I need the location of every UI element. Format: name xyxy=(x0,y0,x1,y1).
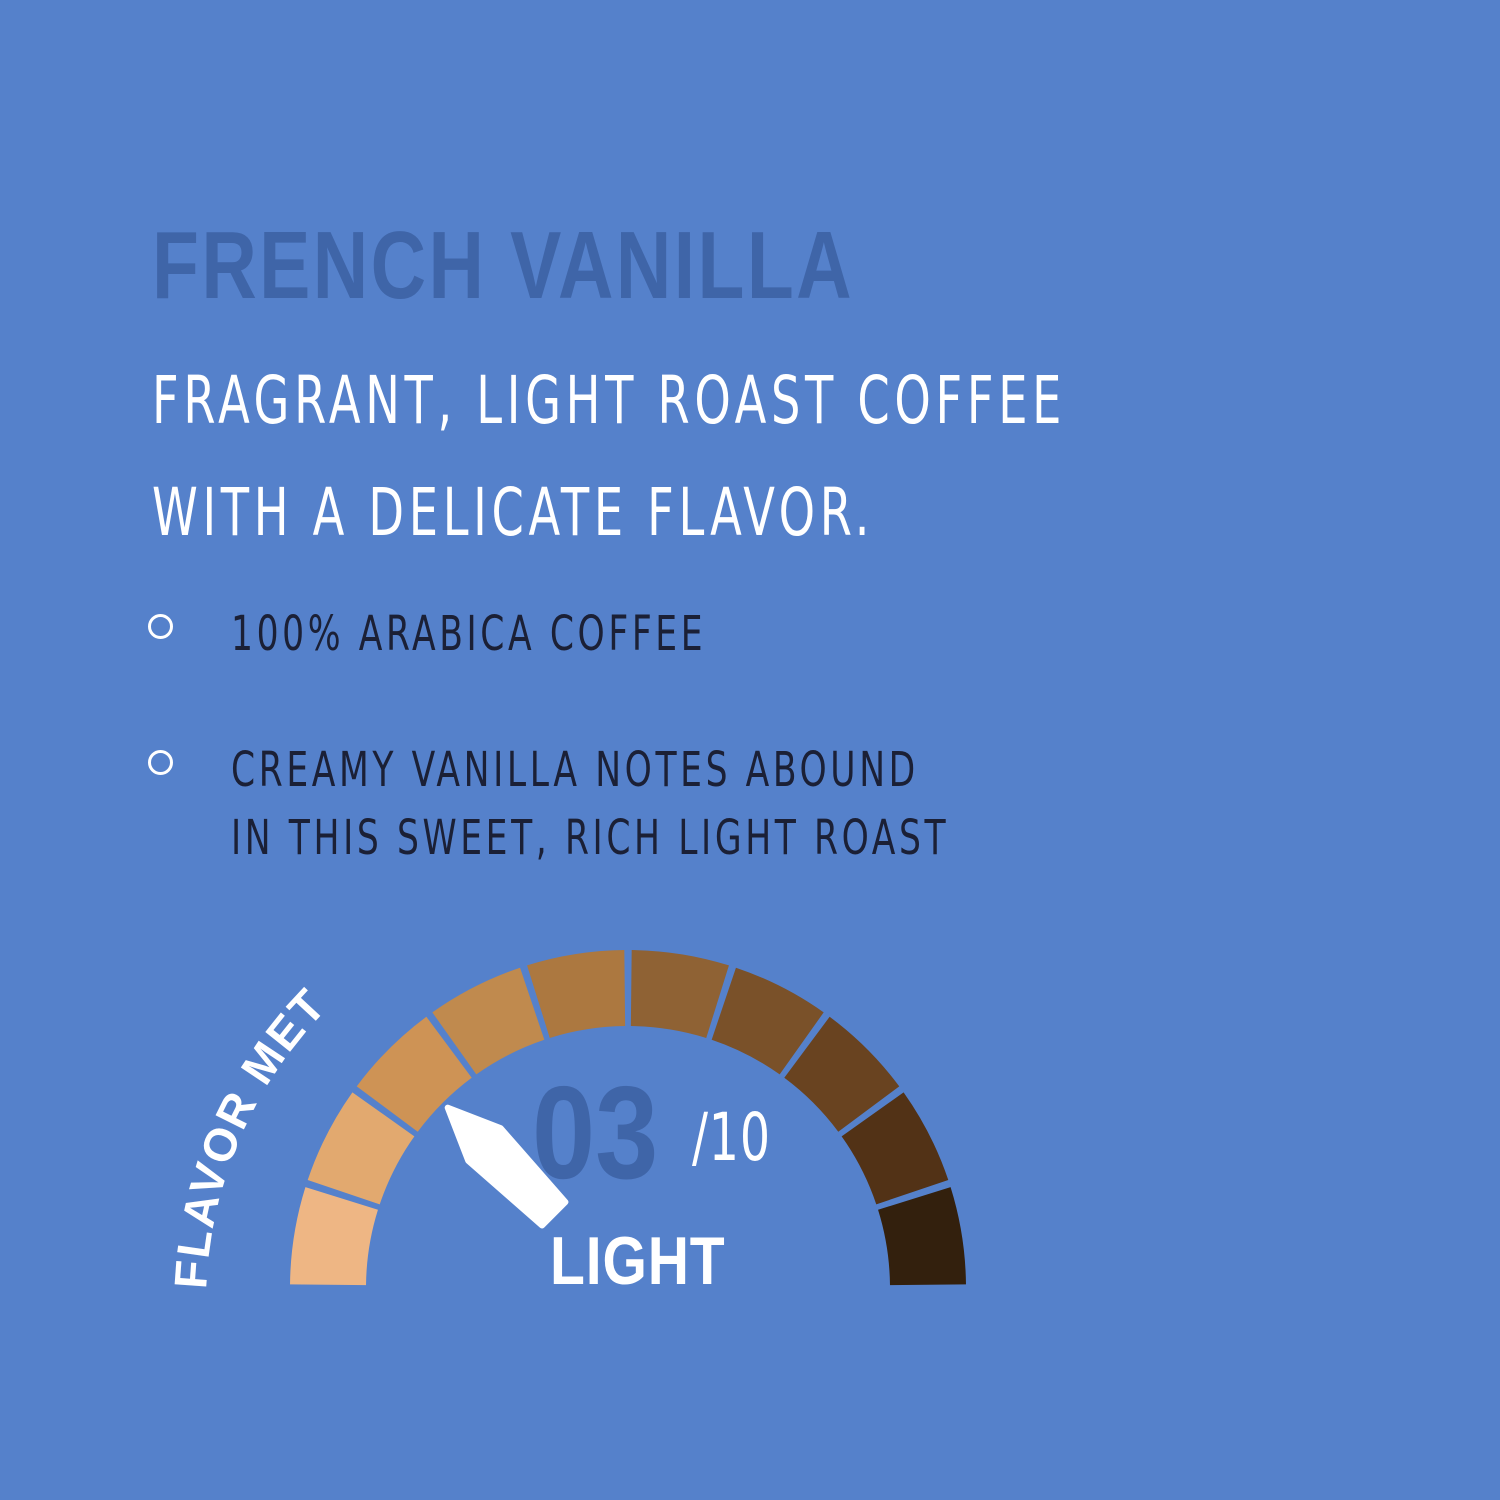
score-denominator: /10 xyxy=(692,1105,771,1171)
list-item-label: CREAMY VANILLA NOTES ABOUND IN THIS SWEE… xyxy=(231,736,949,872)
product-description: FRAGRANT, LIGHT ROAST COFFEE WITH A DELI… xyxy=(152,345,1049,569)
gauge-segment-6 xyxy=(631,950,729,1038)
gauge-readout: 03 /10 LIGHT xyxy=(520,1075,850,1315)
product-info-panel: FRENCH VANILLA FRAGRANT, LIGHT ROAST COF… xyxy=(0,0,1500,1500)
list-item-line: 100% ARABICA COFFEE xyxy=(231,600,706,668)
description-line-1: FRAGRANT, LIGHT ROAST COFFEE xyxy=(152,345,1049,457)
score-value: 03 xyxy=(532,1067,658,1199)
feature-list: 100% ARABICA COFFEE CREAMY VANILLA NOTES… xyxy=(148,600,1348,940)
list-item: CREAMY VANILLA NOTES ABOUND IN THIS SWEE… xyxy=(148,736,1348,872)
list-item-line: IN THIS SWEET, RICH LIGHT ROAST xyxy=(231,804,949,872)
gauge-label: FLAVOR METER xyxy=(0,905,336,1290)
circle-outline-icon xyxy=(148,614,173,639)
page-title: FRENCH VANILLA xyxy=(152,218,854,314)
gauge-segment-1 xyxy=(290,1187,378,1285)
description-line-2: WITH A DELICATE FLAVOR. xyxy=(152,457,1049,569)
list-item-line: CREAMY VANILLA NOTES ABOUND xyxy=(231,736,949,804)
gauge-segment-5 xyxy=(527,950,625,1038)
list-item-label: 100% ARABICA COFFEE xyxy=(231,600,706,668)
gauge-segment-10 xyxy=(878,1187,966,1285)
list-item: 100% ARABICA COFFEE xyxy=(148,600,1348,668)
circle-outline-icon xyxy=(148,750,173,775)
roast-level-label: LIGHT xyxy=(550,1227,726,1295)
